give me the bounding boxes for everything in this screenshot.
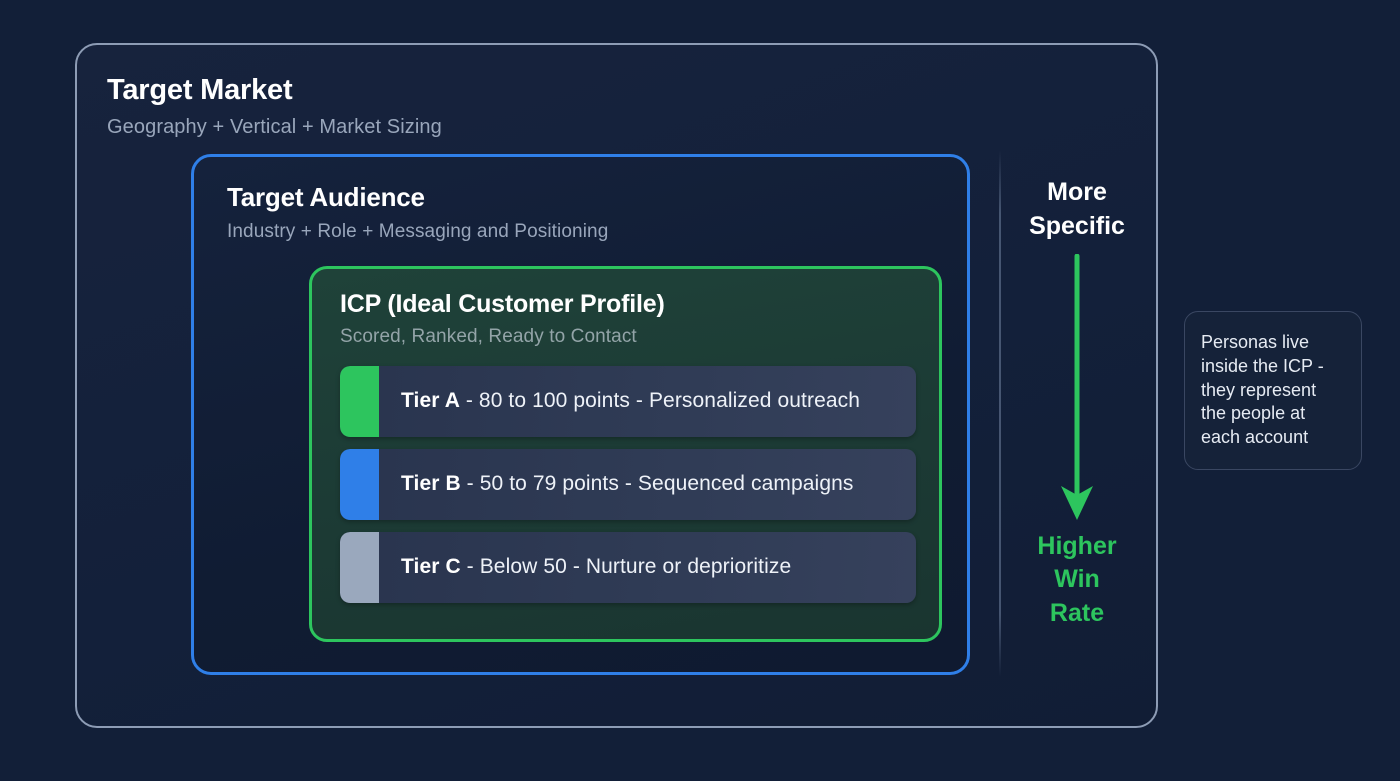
axis-bottom-label: Higher Win Rate [1006, 530, 1148, 631]
axis-top-label: More Specific [1006, 176, 1148, 244]
axis-bottom-label-line1: Higher [1006, 530, 1148, 564]
personas-callout-text: Personas live inside the ICP - they repr… [1201, 331, 1345, 451]
arrow-down-icon [1006, 254, 1148, 522]
specificity-axis: More Specific Higher Win Rate [1006, 176, 1148, 631]
tier-detail: - 80 to 100 points - Personalized outrea… [460, 389, 860, 412]
target-audience-subtitle: Industry + Role + Messaging and Position… [227, 221, 967, 243]
tier-color-chip [340, 366, 379, 437]
tier-color-chip [340, 532, 379, 603]
tier-row: Tier B - 50 to 79 points - Sequenced cam… [340, 449, 916, 520]
vertical-divider [999, 150, 1001, 677]
target-audience-title: Target Audience [227, 183, 967, 212]
tier-list: Tier A - 80 to 100 points - Personalized… [340, 366, 939, 603]
tier-label: Tier C - Below 50 - Nurture or depriorit… [379, 555, 791, 579]
tier-row: Tier C - Below 50 - Nurture or depriorit… [340, 532, 916, 603]
axis-top-label-line2: Specific [1006, 210, 1148, 244]
axis-bottom-label-line2: Win [1006, 563, 1148, 597]
tier-label: Tier B - 50 to 79 points - Sequenced cam… [379, 472, 853, 496]
tier-color-chip [340, 449, 379, 520]
tier-label: Tier A - 80 to 100 points - Personalized… [379, 389, 860, 413]
icp-subtitle: Scored, Ranked, Ready to Contact [340, 326, 939, 348]
icp-title: ICP (Ideal Customer Profile) [340, 291, 939, 319]
target-market-title: Target Market [107, 75, 1156, 107]
target-market-subtitle: Geography + Vertical + Market Sizing [107, 116, 1156, 139]
tier-name: Tier B [401, 472, 461, 495]
axis-bottom-label-line3: Rate [1006, 597, 1148, 631]
personas-callout: Personas live inside the ICP - they repr… [1184, 311, 1362, 470]
icp-box: ICP (Ideal Customer Profile) Scored, Ran… [309, 266, 942, 642]
tier-name: Tier C [401, 555, 461, 578]
tier-detail: - 50 to 79 points - Sequenced campaigns [461, 472, 854, 495]
tier-detail: - Below 50 - Nurture or deprioritize [461, 555, 792, 578]
tier-name: Tier A [401, 389, 460, 412]
axis-top-label-line1: More [1006, 176, 1148, 210]
tier-row: Tier A - 80 to 100 points - Personalized… [340, 366, 916, 437]
